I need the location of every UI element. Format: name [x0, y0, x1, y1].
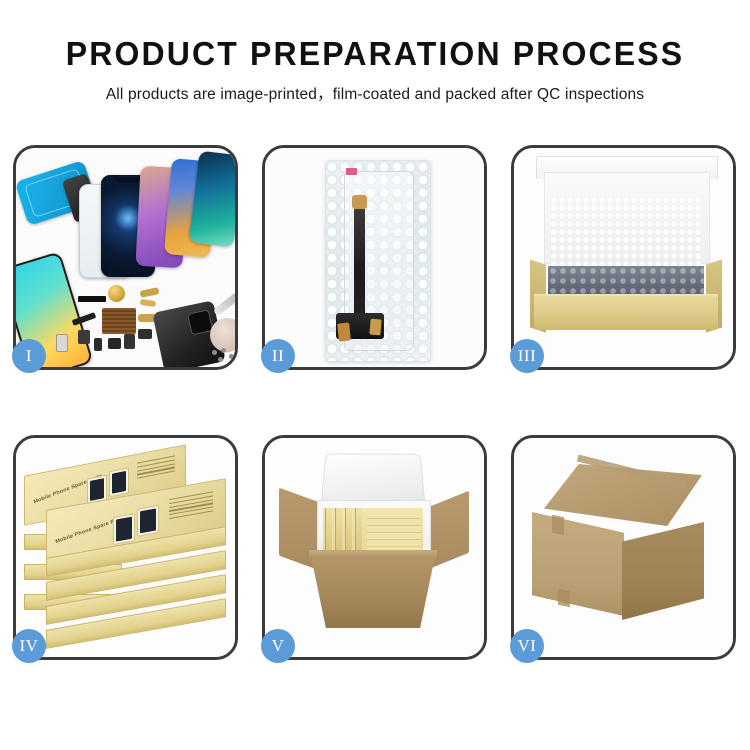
header: PRODUCT PREPARATION PROCESS All products… — [0, 0, 750, 104]
product-preparation-infographic: PRODUCT PREPARATION PROCESS All products… — [0, 0, 750, 750]
box-label-lines-2 — [169, 491, 213, 521]
step-badge-4: IV — [12, 629, 46, 663]
page-subtitle: All products are image-printed，film-coat… — [0, 82, 750, 104]
small-part-5 — [124, 334, 135, 349]
step-badge-6: VI — [510, 629, 544, 663]
circuit-board-part — [102, 308, 136, 334]
step-1-photo — [16, 148, 235, 367]
gold-connector-2 — [369, 319, 381, 336]
box-label-image-2b — [137, 505, 159, 537]
flex-cable-part-1 — [139, 287, 159, 298]
battery-connector-part — [78, 296, 106, 302]
small-part-4 — [108, 338, 121, 349]
small-part-3 — [94, 338, 102, 351]
step-5-photo — [265, 438, 484, 657]
process-step-card-2: II — [262, 145, 487, 370]
step-badge-5: V — [261, 629, 295, 663]
gold-coil-part — [108, 285, 125, 302]
process-step-card-1: I — [13, 145, 238, 370]
repair-tool — [213, 292, 235, 317]
box-label-image-2a — [113, 513, 135, 545]
small-part-2 — [78, 330, 90, 344]
carton-top-face — [544, 464, 702, 526]
process-step-card-3: III — [511, 145, 736, 370]
carton-seam-top — [552, 515, 564, 536]
carton-side-face — [622, 522, 704, 620]
process-step-card-5: V — [262, 435, 487, 660]
box-front-wall — [534, 298, 718, 330]
sim-tray-part — [56, 334, 68, 352]
step-badge-2: II — [261, 339, 295, 373]
page-title: PRODUCT PREPARATION PROCESS — [11, 34, 739, 74]
step-3-photo — [514, 148, 733, 367]
process-step-card-6: VI — [511, 435, 736, 660]
carton-front-face — [532, 512, 624, 616]
foam-sheet — [550, 196, 702, 268]
pink-label — [346, 168, 357, 175]
process-step-grid: I II — [13, 145, 737, 680]
box-label-lines-1 — [137, 455, 175, 481]
process-step-card-4: Mobile Phone Spare Parts Mobile Phone Sp… — [13, 435, 238, 660]
step-6-photo — [514, 438, 733, 657]
step-badge-1: I — [12, 339, 46, 373]
flex-cable-part-2 — [140, 299, 157, 307]
box-label-image-1b — [109, 467, 129, 497]
small-part-7 — [138, 329, 152, 339]
gold-connector-1 — [337, 322, 351, 341]
carton-seam-bottom — [558, 589, 570, 608]
box-stack: Mobile Phone Spare Parts Mobile Phone Sp… — [16, 438, 235, 657]
step-badge-3: III — [510, 339, 544, 373]
carton-body — [311, 556, 435, 628]
bubble-wrap-bag — [325, 160, 431, 362]
screws-group — [212, 348, 235, 362]
packed-boxes-row — [323, 508, 423, 556]
step-2-photo — [265, 148, 484, 367]
step-4-photo: Mobile Phone Spare Parts Mobile Phone Sp… — [16, 438, 235, 657]
